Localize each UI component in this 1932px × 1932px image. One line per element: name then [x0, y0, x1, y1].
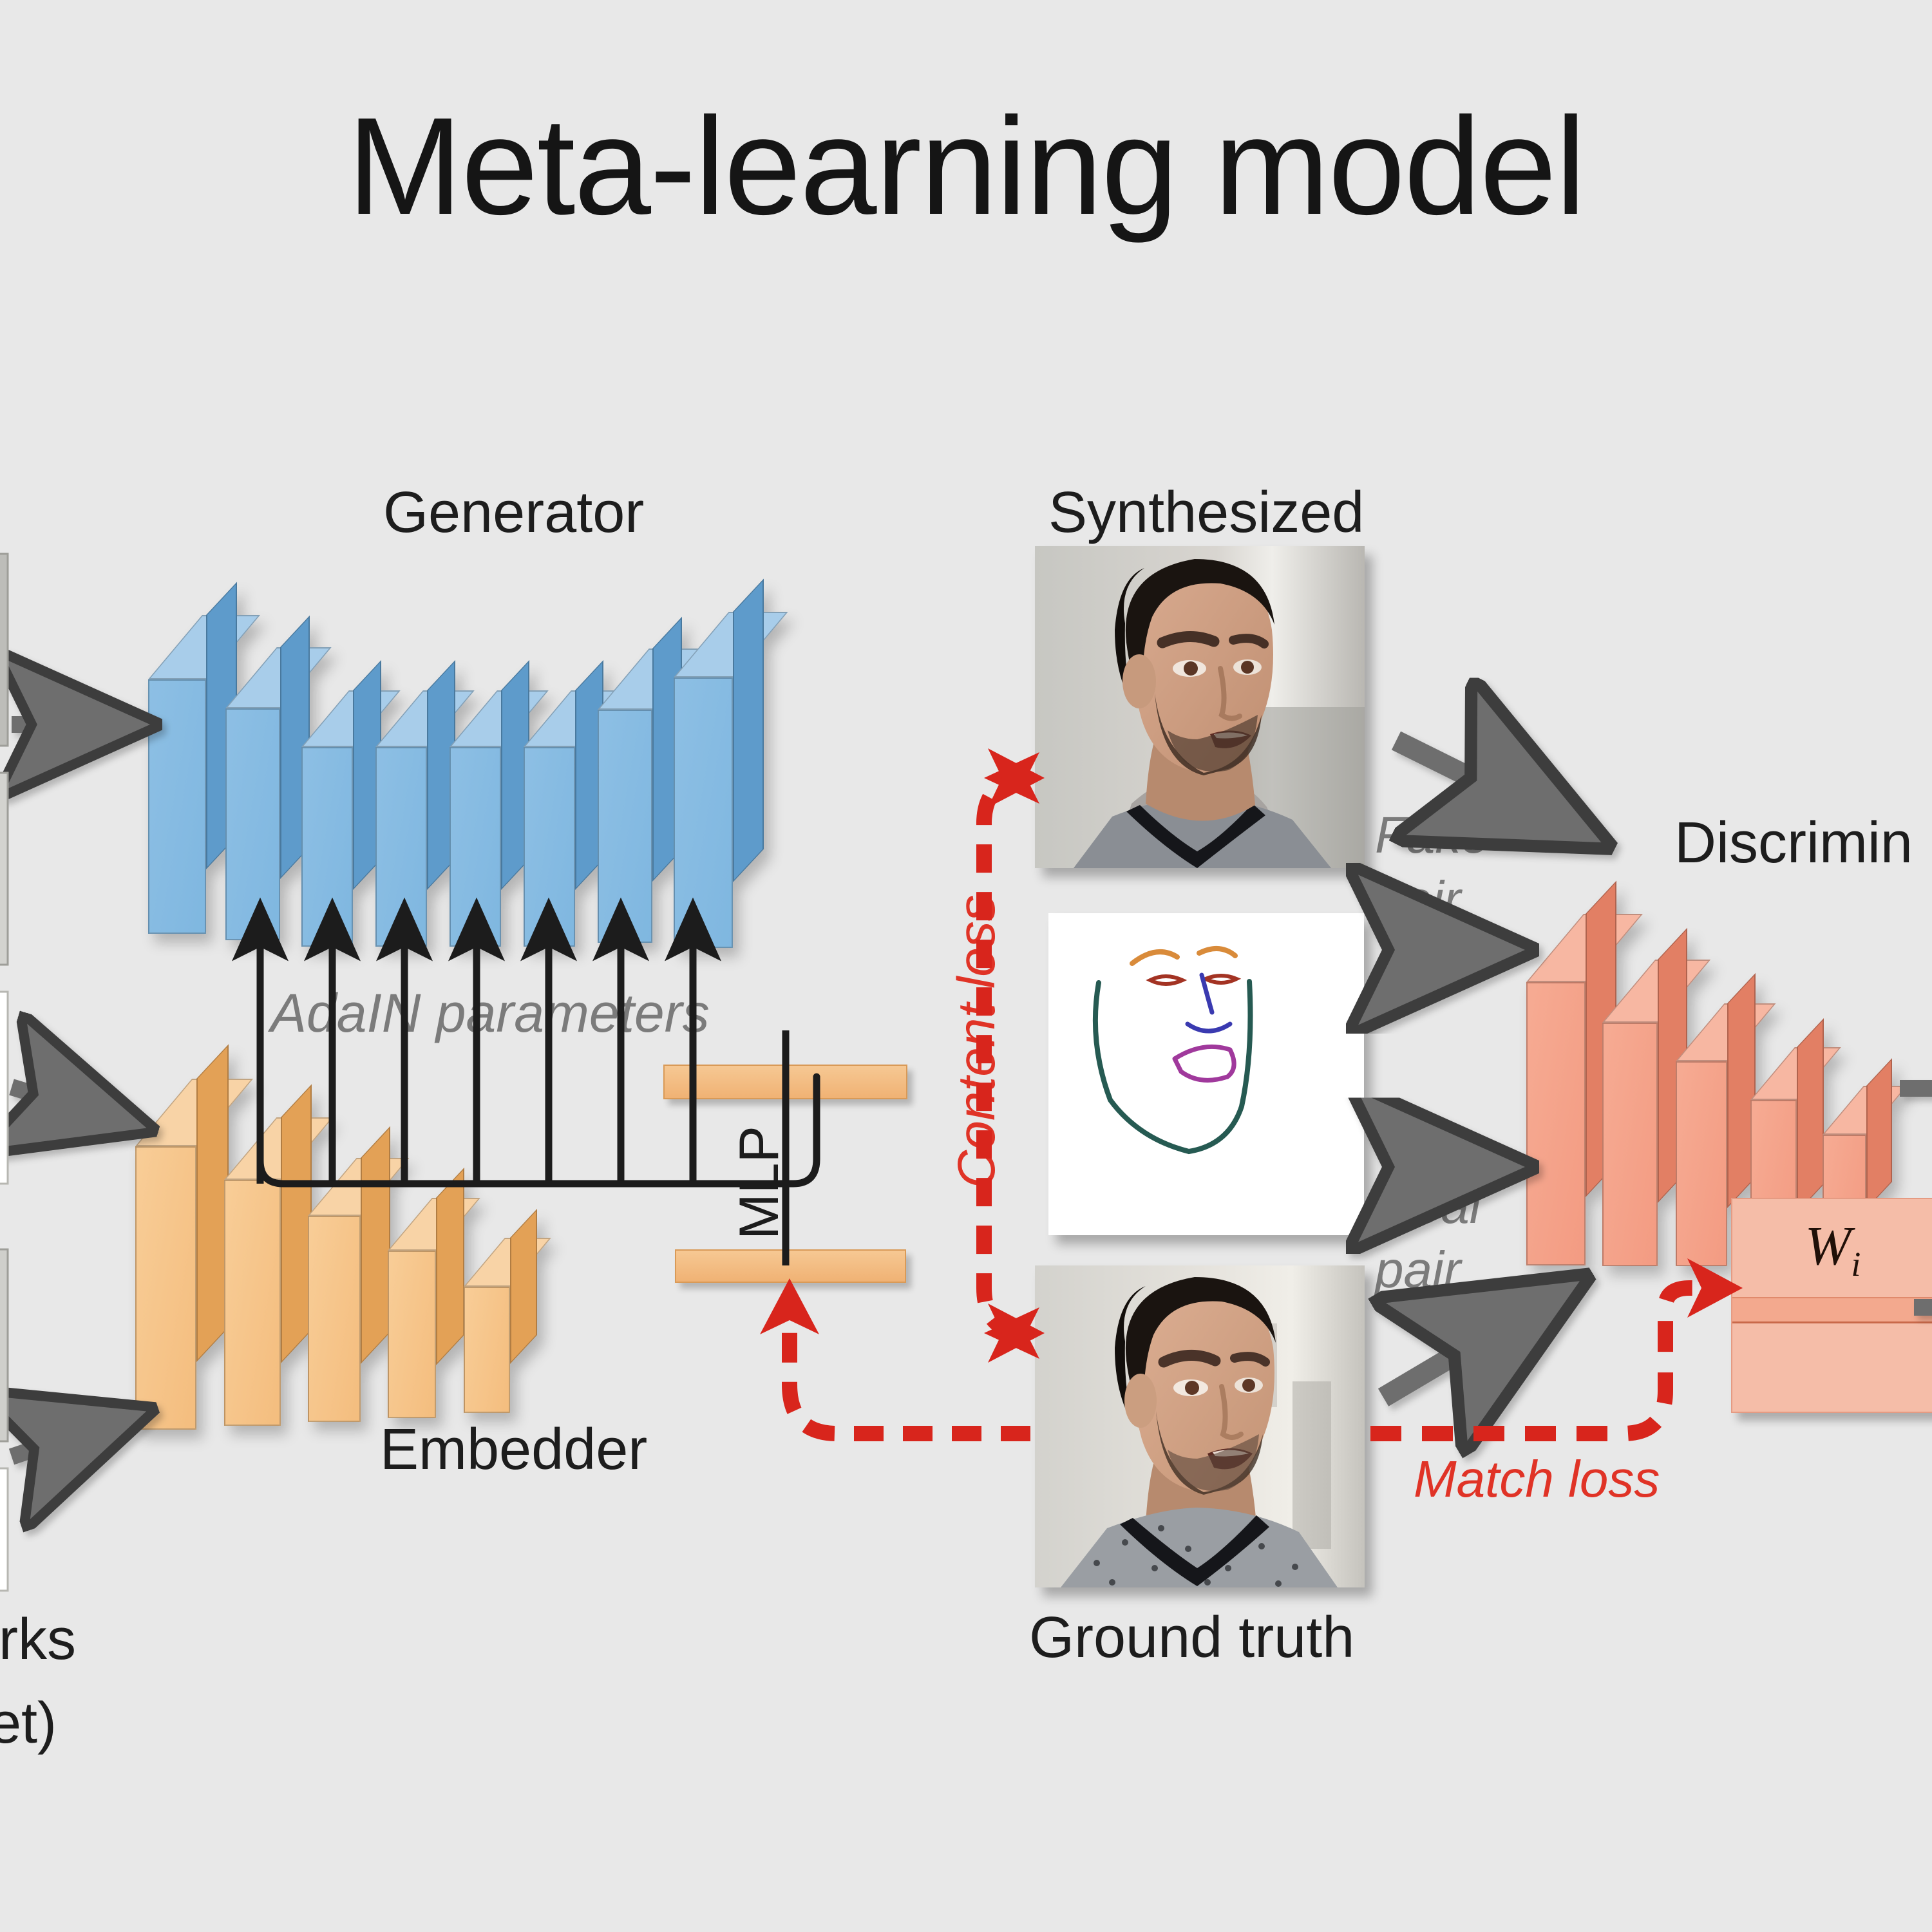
synthesized-label: Synthesized	[1048, 480, 1364, 546]
wi-label: Wi	[1732, 1213, 1932, 1284]
real-pair-label-line2: pair	[1375, 1243, 1461, 1296]
discriminator-block-face	[1526, 982, 1586, 1265]
embedder-block-top	[388, 1198, 480, 1251]
embedder-block-top	[224, 1117, 333, 1180]
clipped-input-thumbnails	[0, 554, 8, 1591]
discriminator-block-top	[1750, 1047, 1841, 1100]
discriminator-block-face	[1676, 1061, 1727, 1266]
facial-landmarks-render	[1048, 913, 1364, 1235]
embedder-block-face	[464, 1287, 510, 1413]
generator-block-top	[148, 615, 260, 679]
generator-network	[129, 535, 966, 947]
embedder-block-top	[308, 1158, 410, 1216]
mlp-label: MLP	[728, 1126, 791, 1240]
wi-highlight-band	[1732, 1297, 1932, 1323]
match-loss-arrow	[1370, 1288, 1716, 1434]
wi-weight-box: Wi	[1731, 1198, 1932, 1413]
ground-truth-face-render	[1035, 1265, 1365, 1587]
embedder-block-face	[388, 1251, 436, 1418]
discriminator-block-side	[1866, 1058, 1892, 1209]
landmark-sketch-image	[1048, 913, 1364, 1235]
generator-block-face	[450, 747, 501, 947]
embedder-block-face	[135, 1146, 196, 1430]
embedder-block-side	[436, 1168, 464, 1365]
videoset-label-clipped: set)	[0, 1690, 57, 1757]
generator-block-top	[674, 612, 788, 677]
embedder-block-face	[308, 1216, 361, 1422]
generator-block-face	[375, 747, 427, 947]
discriminator-block-top	[1526, 914, 1643, 982]
embedder-block-side	[510, 1209, 537, 1364]
real-pair-label-line1: Real	[1375, 1179, 1481, 1232]
match-loss-label: Match loss	[1414, 1452, 1660, 1506]
generator-block-face	[598, 710, 652, 943]
fake-pair-label-line1: Fake	[1375, 808, 1490, 862]
content-loss-label: Content loss	[947, 895, 1007, 1188]
embedder-block-face	[224, 1180, 281, 1426]
discriminator-block-side	[1797, 1018, 1824, 1213]
discriminator-block-top	[1602, 960, 1710, 1023]
generator-block-face	[225, 708, 280, 940]
ground-truth-label: Ground truth	[1029, 1605, 1354, 1671]
generator-block-top	[225, 647, 332, 708]
fake-pair-label-line2: pair	[1375, 873, 1461, 926]
adain-parameters-label: AdaIN parameters	[270, 985, 710, 1041]
page-title: Meta-learning model	[0, 97, 1932, 235]
embedder-block-side	[281, 1084, 312, 1363]
generator-block-side	[733, 579, 764, 882]
embedder-block-top	[135, 1079, 253, 1146]
ground-truth-image	[1035, 1265, 1365, 1587]
discriminator-block-top	[1823, 1086, 1908, 1135]
mlp-feedback-arrowhead	[760, 1278, 819, 1334]
slide-canvas: Meta-learning model Generator Embedder S…	[0, 0, 1932, 1932]
generator-block-face	[524, 747, 575, 947]
mlp-feedback-arrow	[790, 1323, 1030, 1434]
discriminator-block-top	[1676, 1003, 1776, 1061]
embedder-block-top	[464, 1238, 551, 1287]
mlp-top-bar	[663, 1065, 907, 1099]
synthesized-image	[1035, 546, 1365, 868]
generator-block-face	[148, 679, 206, 934]
landmarks-label-clipped: arks	[0, 1607, 76, 1673]
synthesized-face-render	[1035, 546, 1365, 868]
mlp-bottom-bar	[675, 1249, 906, 1283]
generator-block-face	[674, 677, 733, 948]
embedder-block-side	[361, 1126, 390, 1364]
embedder-network	[97, 1043, 741, 1430]
discriminator-block-face	[1602, 1023, 1658, 1266]
generator-block-face	[301, 747, 353, 947]
